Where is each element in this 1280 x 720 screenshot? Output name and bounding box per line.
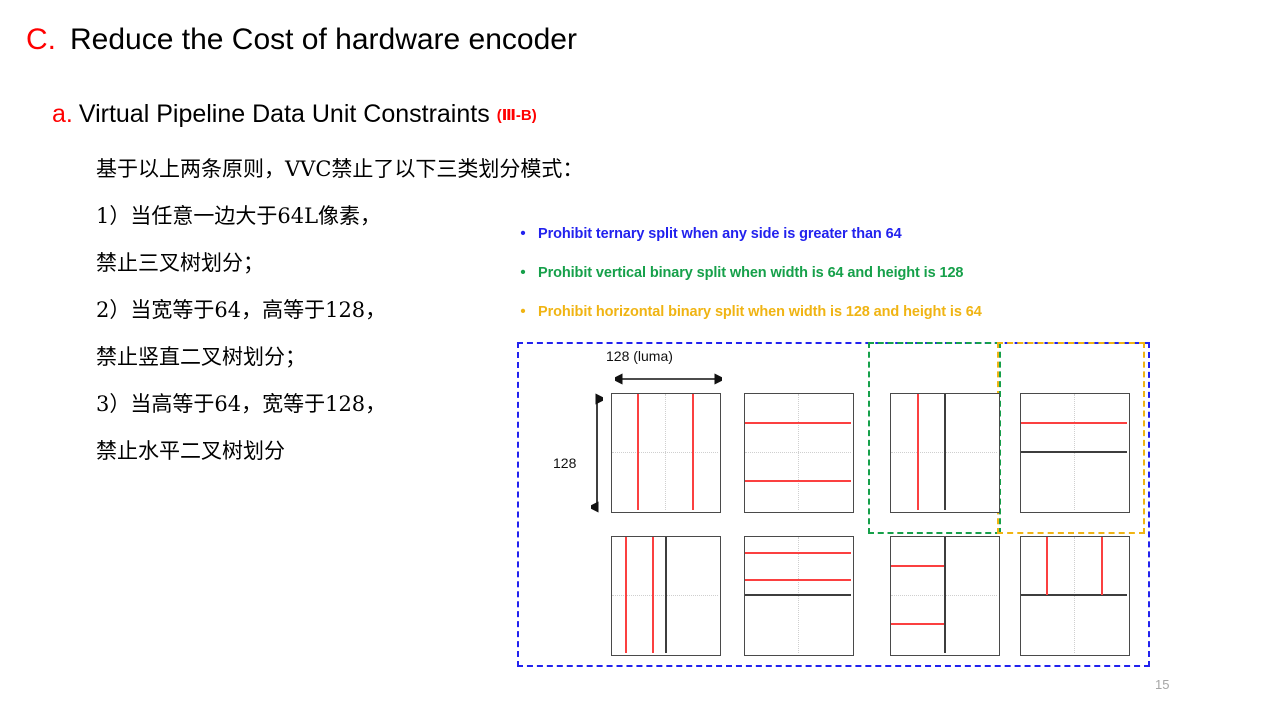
red-split-line <box>745 552 851 554</box>
cu-64x128-vertical-binary <box>890 393 1000 513</box>
guide-line-horizontal <box>745 452 851 453</box>
subtitle-text: Virtual Pipeline Data Unit Constraints <box>79 100 490 128</box>
red-split-line <box>745 579 851 581</box>
red-split-line <box>1101 537 1103 595</box>
black-split-line <box>1021 451 1127 453</box>
width-dimension-label: 128 (luma) <box>606 348 673 364</box>
bullet-icon: • <box>508 304 538 319</box>
title-marker: C. <box>26 23 56 56</box>
red-split-line <box>917 394 919 510</box>
body-line-4: 禁止竖直二叉树划分； <box>96 334 516 381</box>
red-split-line <box>1021 422 1127 424</box>
black-split-line <box>944 537 946 653</box>
guide-line-horizontal <box>612 452 718 453</box>
bullet-icon: • <box>508 226 538 241</box>
body-line-3: 2）当宽等于64，高等于128， <box>96 287 516 334</box>
page-title: C.Reduce the Cost of hardware encoder <box>26 22 577 58</box>
legend-item-ternary: • Prohibit ternary split when any side i… <box>508 226 1168 265</box>
page-number: 15 <box>1155 677 1169 692</box>
bullet-icon: • <box>508 265 538 280</box>
legend: • Prohibit ternary split when any side i… <box>508 226 1168 343</box>
body-line-1: 1）当任意一边大于64L像素， <box>96 193 516 240</box>
legend-label-ternary: Prohibit ternary split when any side is … <box>538 226 902 242</box>
black-split-line <box>944 394 946 510</box>
red-split-line <box>745 480 851 482</box>
cu-128x64-horizontal-binary <box>1020 393 1130 513</box>
legend-item-vertical-binary: • Prohibit vertical binary split when wi… <box>508 265 1168 304</box>
legend-label-vertical-binary: Prohibit vertical binary split when widt… <box>538 265 963 281</box>
body-line-2: 禁止三叉树划分； <box>96 240 516 287</box>
red-split-line <box>891 565 944 567</box>
width-dimension-arrow-icon <box>615 373 722 385</box>
cu-64x128-vertical-ternary <box>611 536 721 656</box>
red-split-line <box>652 537 654 653</box>
red-split-line <box>637 394 639 510</box>
subtitle-marker: a. <box>52 100 73 128</box>
title-text: Reduce the Cost of hardware encoder <box>70 23 577 56</box>
black-split-line <box>745 594 851 596</box>
body-text-block: 基于以上两条原则，VVC禁止了以下三类划分模式： 1）当任意一边大于64L像素，… <box>96 146 516 475</box>
subtitle-reference: (Ⅲ-B) <box>497 107 537 124</box>
red-split-line <box>625 537 627 653</box>
height-dimension-label: 128 <box>553 455 576 471</box>
cu-128x64-top-vertical-ternary <box>1020 536 1130 656</box>
cu-128x128-vertical-ternary <box>611 393 721 513</box>
vpdu-constraint-figure: 128 (luma) 128 <box>505 335 1155 675</box>
cu-128x64-horizontal-ternary <box>744 536 854 656</box>
red-split-line <box>1046 537 1048 595</box>
black-split-line <box>1021 594 1127 596</box>
cu-128x128-horizontal-ternary <box>744 393 854 513</box>
red-split-line <box>891 623 944 625</box>
legend-label-horizontal-binary: Prohibit horizontal binary split when wi… <box>538 304 982 320</box>
body-line-5: 3）当高等于64，宽等于128， <box>96 381 516 428</box>
red-split-line <box>745 422 851 424</box>
cu-64x128-left-horizontal-ternary <box>890 536 1000 656</box>
body-line-6: 禁止水平二叉树划分 <box>96 428 516 475</box>
subtitle: a.Virtual Pipeline Data Unit Constraints… <box>52 98 537 132</box>
black-split-line <box>665 537 667 653</box>
height-dimension-arrow-icon <box>591 393 603 513</box>
red-split-line <box>692 394 694 510</box>
body-line-0: 基于以上两条原则，VVC禁止了以下三类划分模式： <box>96 146 516 193</box>
